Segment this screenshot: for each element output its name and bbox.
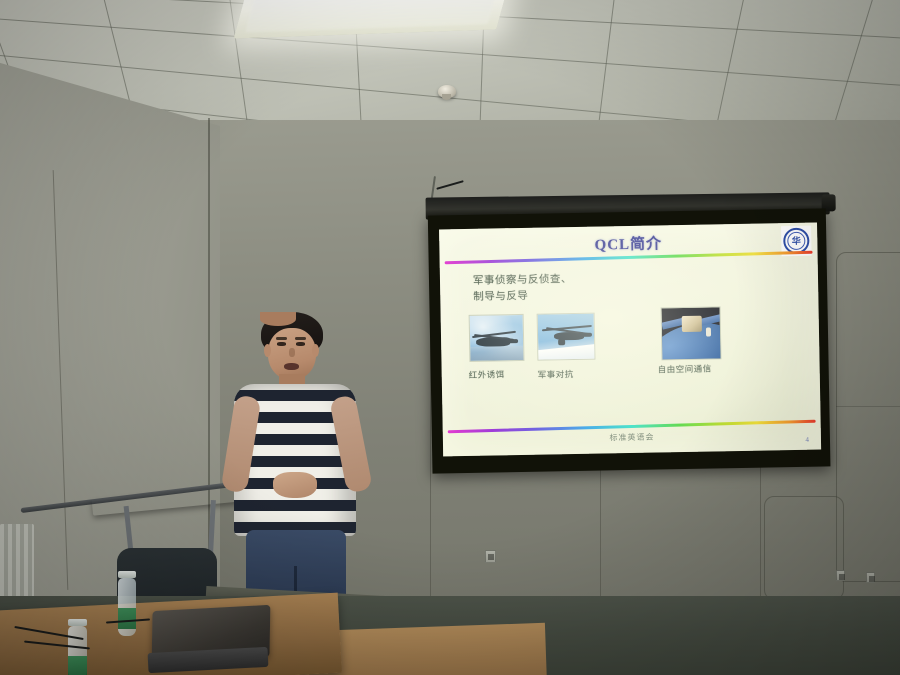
- wall-seam: [600, 470, 601, 610]
- eyebrow: [276, 337, 287, 340]
- infrared-decoy-photo: [469, 314, 525, 362]
- smoke-detector-icon: [438, 85, 456, 98]
- bottle-cap: [68, 619, 87, 626]
- wall-panel: [764, 496, 844, 600]
- presentation-slide: QCL简介 华 军事侦察与反侦查、 制导与反导: [439, 223, 821, 457]
- eye: [296, 342, 305, 346]
- hands: [273, 472, 317, 498]
- eye: [277, 342, 286, 346]
- slide-body-line-2: 制导与反导: [473, 288, 572, 306]
- eyebrow: [295, 337, 306, 340]
- slide-body-text: 军事侦察与反侦查、 制导与反导: [473, 272, 573, 306]
- wall-panel: [836, 252, 900, 582]
- bottle-cap: [118, 571, 136, 578]
- bottle-label: [118, 608, 136, 629]
- mouth: [284, 363, 299, 370]
- image-caption: 自由空间通信: [658, 362, 712, 375]
- screen-frame: QCL简介 华 军事侦察与反侦查、 制导与反导: [428, 208, 831, 473]
- seal-glyph: 华: [792, 236, 801, 245]
- image-caption: 军事对抗: [538, 368, 574, 381]
- classroom-photo: QCL简介 华 军事侦察与反侦查、 制导与反导: [0, 0, 900, 675]
- water-bottle[interactable]: [68, 626, 87, 675]
- image-caption: 红外诱饵: [469, 368, 505, 381]
- projection-screen[interactable]: QCL简介 华 军事侦察与反侦查、 制导与反导: [428, 192, 831, 475]
- water-bottle[interactable]: [118, 578, 136, 636]
- slide-page-number: 4: [805, 436, 809, 444]
- bottle-label: [68, 656, 87, 675]
- shirt-collar: [260, 312, 296, 326]
- nose: [289, 348, 295, 357]
- wall-power-outlet[interactable]: [866, 572, 875, 583]
- slide-body-line-1: 军事侦察与反侦查、: [473, 272, 572, 290]
- wall-power-outlet[interactable]: [485, 550, 496, 563]
- slide-image-row: [469, 308, 822, 315]
- wall-power-outlet[interactable]: [836, 570, 845, 581]
- military-countermeasure-photo: [537, 313, 596, 361]
- free-space-communication-photo: [661, 306, 722, 360]
- ear: [264, 344, 271, 357]
- ear: [312, 344, 319, 357]
- ceiling-light-fixture: [234, 0, 511, 39]
- wall-panel-seam: [836, 406, 900, 407]
